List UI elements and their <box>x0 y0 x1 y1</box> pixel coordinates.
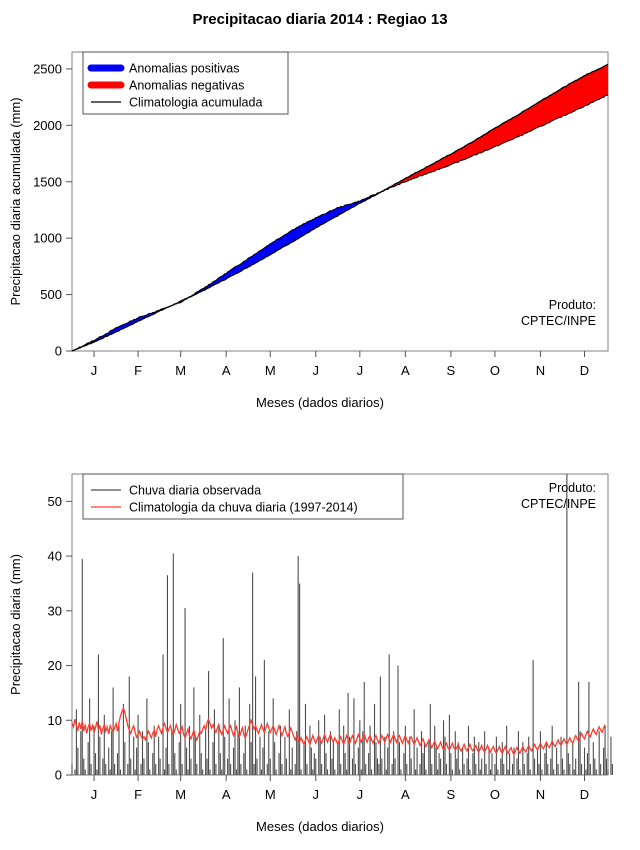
observed-accumulated-line <box>72 95 608 351</box>
figure-root: Precipitacao diaria 2014 : Regiao 130500… <box>0 0 640 850</box>
daily-climatology-line <box>72 708 605 754</box>
top-xtick-label: O <box>490 363 500 378</box>
top-ytick-label: 0 <box>55 344 62 359</box>
top-xtick-label: J <box>313 363 320 378</box>
chart-canvas: Precipitacao diaria 2014 : Regiao 130500… <box>0 0 640 850</box>
bottom-xtick-label: J <box>313 787 320 802</box>
bottom-xtick-label: M <box>265 787 276 802</box>
top-ytick-label: 2000 <box>33 118 62 133</box>
top-legend-label: Anomalias negativas <box>129 79 244 93</box>
bottom-legend-label: Chuva diaria observada <box>129 484 261 498</box>
bottom-xtick-label: M <box>175 787 186 802</box>
top-xtick-label: S <box>447 363 456 378</box>
bottom-xtick-label: J <box>357 787 364 802</box>
top-ytick-label: 2500 <box>33 61 62 76</box>
bottom-produto-line2: CPTEC/INPE <box>521 497 596 511</box>
top-xtick-label: A <box>401 363 410 378</box>
bottom-xtick-label: A <box>222 787 231 802</box>
bottom-xtick-label: F <box>134 787 142 802</box>
top-legend-label: Anomalias positivas <box>129 62 239 76</box>
top-produto-line2: CPTEC/INPE <box>521 314 596 328</box>
bottom-xtick-label: D <box>580 787 589 802</box>
bottom-xtick-label: O <box>490 787 500 802</box>
bottom-xtick-label: J <box>91 787 98 802</box>
top-ytick-label: 1500 <box>33 174 62 189</box>
bottom-yaxis-label: Precipitacao diaria (mm) <box>8 554 23 695</box>
bottom-legend-label: Climatologia da chuva diaria (1997-2014) <box>129 501 358 515</box>
bottom-ytick-label: 0 <box>55 768 62 783</box>
top-xtick-label: J <box>91 363 98 378</box>
bottom-ytick-label: 30 <box>48 603 62 618</box>
top-ytick-label: 1000 <box>33 231 62 246</box>
bottom-ytick-label: 20 <box>48 658 62 673</box>
page-title: Precipitacao diaria 2014 : Regiao 13 <box>192 11 447 28</box>
top-xtick-label: D <box>580 363 589 378</box>
bottom-ytick-label: 10 <box>48 713 62 728</box>
bottom-produto-line1: Produto: <box>549 481 596 495</box>
bottom-xaxis-label: Meses (dados diarios) <box>256 819 384 834</box>
top-xtick-label: N <box>536 363 545 378</box>
bottom-ytick-label: 50 <box>48 494 62 509</box>
top-xtick-label: J <box>357 363 364 378</box>
bottom-xtick-label: A <box>401 787 410 802</box>
top-yaxis-label: Precipitacao diaria acumulada (mm) <box>8 97 23 305</box>
top-legend-label: Climatologia acumulada <box>129 96 262 110</box>
bottom-xtick-label: S <box>447 787 456 802</box>
top-xtick-label: M <box>175 363 186 378</box>
bottom-xtick-label: N <box>536 787 545 802</box>
top-xaxis-label: Meses (dados diarios) <box>256 395 384 410</box>
bottom-ytick-label: 40 <box>48 549 62 564</box>
top-xtick-label: F <box>134 363 142 378</box>
top-produto-line1: Produto: <box>549 298 596 312</box>
top-xtick-label: A <box>222 363 231 378</box>
top-xtick-label: M <box>265 363 276 378</box>
top-ytick-label: 500 <box>40 287 62 302</box>
